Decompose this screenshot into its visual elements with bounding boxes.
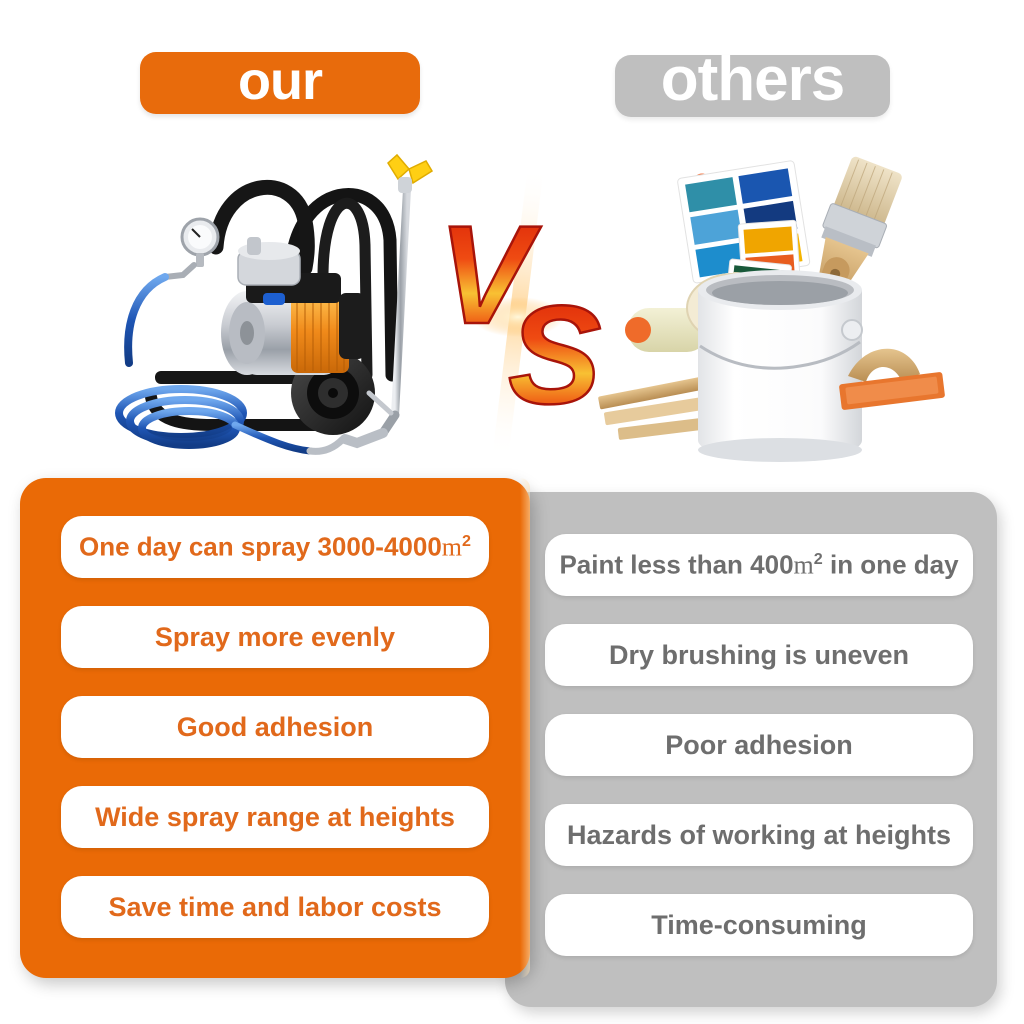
others-feature-label-2: Dry brushing is uneven <box>609 642 909 669</box>
header-badge-ours: our <box>140 52 420 114</box>
ours-feature-row-4: Wide spray range at heights <box>61 786 489 848</box>
ours-feature-row-1: One day can spray 3000-4000m2 <box>61 516 489 578</box>
others-feature-row-5: Time-consuming <box>545 894 973 956</box>
product-image-manual-tools <box>590 150 985 475</box>
others-feature-label-3: Poor adhesion <box>665 732 853 759</box>
ours-feature-row-3: Good adhesion <box>61 696 489 758</box>
header-badge-others: others <box>615 55 890 117</box>
ours-feature-label-3: Good adhesion <box>177 714 374 741</box>
others-feature-label-5: Time-consuming <box>651 912 867 939</box>
comparison-infographic: our others <box>0 0 1024 1024</box>
others-feature-label-1: Paint less than 400m2 in one day <box>559 551 958 579</box>
ours-feature-row-2: Spray more evenly <box>61 606 489 668</box>
ours-feature-label-2: Spray more evenly <box>155 624 395 651</box>
others-feature-row-3: Poor adhesion <box>545 714 973 776</box>
others-feature-label-4: Hazards of working at heights <box>567 822 951 849</box>
vs-badge: V S <box>430 175 620 450</box>
ours-feature-label-4: Wide spray range at heights <box>95 804 455 831</box>
comparison-panel-ours: One day can spray 3000-4000m2 Spray more… <box>20 478 530 978</box>
comparison-panel-others: Paint less than 400m2 in one day Dry bru… <box>505 492 997 1007</box>
product-image-airless-sprayer <box>95 125 470 475</box>
others-feature-row-1: Paint less than 400m2 in one day <box>545 534 973 596</box>
header-label-others: others <box>661 49 844 111</box>
ours-feature-label-5: Save time and labor costs <box>108 894 441 921</box>
ours-feature-label-1: One day can spray 3000-4000m2 <box>79 533 471 561</box>
others-feature-row-4: Hazards of working at heights <box>545 804 973 866</box>
others-feature-row-2: Dry brushing is uneven <box>545 624 973 686</box>
header-label-ours: our <box>238 54 322 108</box>
vs-letter-s: S <box>508 276 601 433</box>
ours-feature-row-5: Save time and labor costs <box>61 876 489 938</box>
